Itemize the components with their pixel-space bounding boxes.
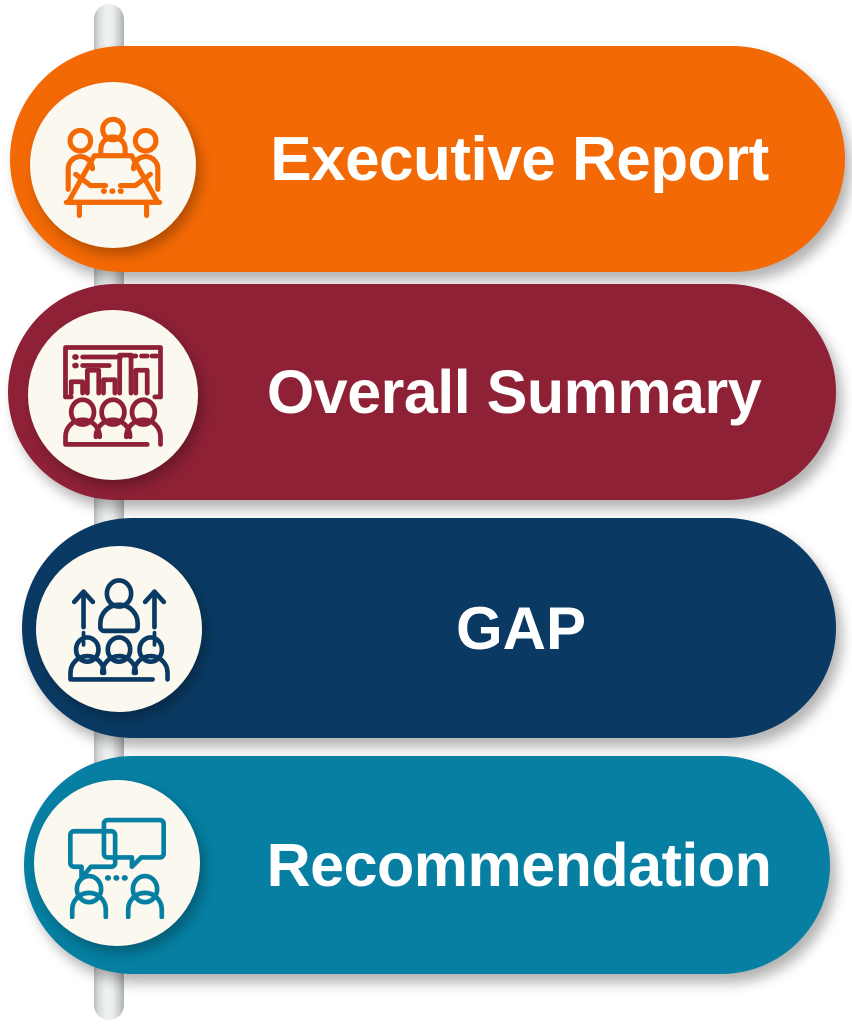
team-growth-arrows-icon bbox=[63, 573, 175, 685]
boardroom-meeting-icon bbox=[57, 109, 169, 221]
badge-overall-summary[interactable] bbox=[28, 310, 198, 480]
badge-executive-report[interactable] bbox=[30, 82, 196, 248]
label-overall-summary: Overall Summary bbox=[218, 284, 810, 500]
speech-bubbles-discussion-icon bbox=[61, 807, 173, 919]
badge-gap[interactable] bbox=[36, 546, 202, 712]
label-gap: GAP bbox=[232, 518, 810, 738]
section-row-executive-report[interactable]: Executive Report bbox=[0, 46, 852, 272]
section-row-gap[interactable]: GAP bbox=[0, 518, 852, 738]
presentation-chart-audience-icon bbox=[56, 338, 170, 452]
label-recommendation: Recommendation bbox=[234, 756, 804, 974]
section-row-recommendation[interactable]: Recommendation bbox=[0, 756, 852, 974]
infographic-canvas: Executive Report bbox=[0, 0, 852, 1024]
section-row-overall-summary[interactable]: Overall Summary bbox=[0, 284, 852, 500]
badge-recommendation[interactable] bbox=[34, 780, 200, 946]
label-executive-report: Executive Report bbox=[220, 46, 819, 272]
